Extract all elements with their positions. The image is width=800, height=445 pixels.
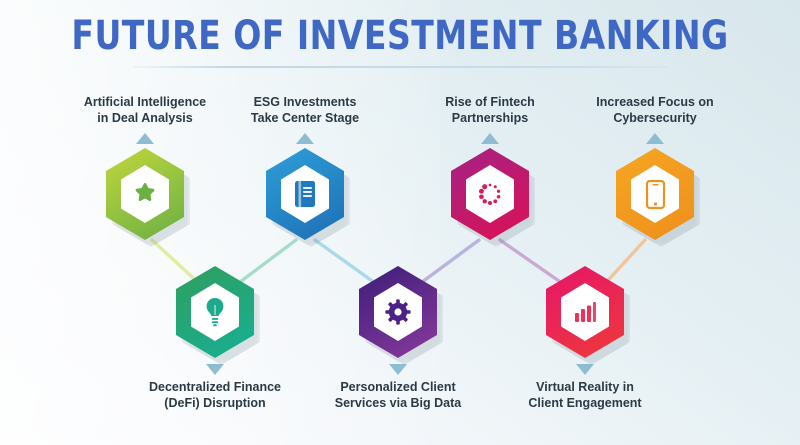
node-label-personalized-client-services: Personalized Client Services via Big Dat… <box>303 380 493 411</box>
pointer-up-icon <box>481 133 499 144</box>
pointer-down-icon <box>576 364 594 375</box>
title-divider <box>133 66 668 68</box>
page-title: FUTURE OF INVESTMENT BANKING <box>32 14 768 58</box>
node-label-esg-investments: ESG Investments Take Center Stage <box>210 95 400 126</box>
hexagon-cybersecurity[interactable] <box>616 148 694 240</box>
node-defi-disruption[interactable]: Decentralized Finance (DeFi) Disruption <box>120 266 310 411</box>
pointer-down-icon <box>206 364 224 375</box>
hexagon-personalized-client-services[interactable] <box>359 266 437 358</box>
node-label-cybersecurity: Increased Focus on Cybersecurity <box>560 95 750 126</box>
node-personalized-client-services[interactable]: Personalized Client Services via Big Dat… <box>303 266 493 411</box>
hexagon-esg-investments[interactable] <box>266 148 344 240</box>
node-fintech-partnerships[interactable]: Rise of Fintech Partnerships <box>395 95 585 240</box>
title-block: FUTURE OF INVESTMENT BANKING <box>0 14 800 68</box>
pointer-up-icon <box>296 133 314 144</box>
hexagon-ai-deal-analysis[interactable] <box>106 148 184 240</box>
hexagon-virtual-reality-engagement[interactable] <box>546 266 624 358</box>
node-label-defi-disruption: Decentralized Finance (DeFi) Disruption <box>120 380 310 411</box>
infographic-canvas: FUTURE OF INVESTMENT BANKING Artificial … <box>0 0 800 445</box>
hexagon-fintech-partnerships[interactable] <box>451 148 529 240</box>
pointer-up-icon <box>646 133 664 144</box>
node-esg-investments[interactable]: ESG Investments Take Center Stage <box>210 95 400 240</box>
node-virtual-reality-engagement[interactable]: Virtual Reality in Client Engagement <box>490 266 680 411</box>
node-label-virtual-reality-engagement: Virtual Reality in Client Engagement <box>490 380 680 411</box>
pointer-up-icon <box>136 133 154 144</box>
node-label-fintech-partnerships: Rise of Fintech Partnerships <box>395 95 585 126</box>
node-cybersecurity[interactable]: Increased Focus on Cybersecurity <box>560 95 750 240</box>
hexagon-defi-disruption[interactable] <box>176 266 254 358</box>
pointer-down-icon <box>389 364 407 375</box>
